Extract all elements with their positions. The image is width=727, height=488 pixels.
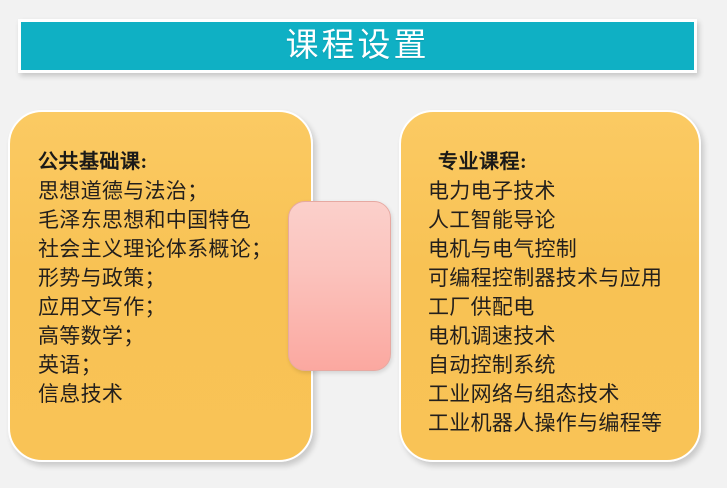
- right-box-heading: 专业课程:: [428, 148, 699, 177]
- right-course-item: 工业机器人操作与编程等: [428, 409, 699, 438]
- right-course-item: 电机与电气控制: [428, 235, 699, 264]
- left-box-content: 公共基础课: 思想道德与法治； 毛泽东思想和中国特色 社会主义理论体系概论； 形…: [10, 112, 311, 460]
- center-connector-card: [288, 201, 391, 371]
- right-course-item: 工厂供配电: [428, 293, 699, 322]
- right-course-item: 工业网络与组态技术: [428, 380, 699, 409]
- slide-canvas: 课程设置 公共基础课: 思想道德与法治； 毛泽东思想和中国特色 社会主义理论体系…: [0, 0, 727, 488]
- left-course-item: 英语；: [38, 351, 311, 380]
- right-course-item: 可编程控制器技术与应用: [428, 264, 699, 293]
- right-box-content: 专业课程: 电力电子技术 人工智能导论 电机与电气控制 可编程控制器技术与应用 …: [401, 112, 699, 460]
- title-banner: 课程设置: [18, 19, 697, 73]
- right-course-item: 自动控制系统: [428, 351, 699, 380]
- left-course-item: 毛泽东思想和中国特色: [38, 206, 311, 235]
- left-course-item: 社会主义理论体系概论；: [38, 235, 311, 264]
- professional-courses-box: 专业课程: 电力电子技术 人工智能导论 电机与电气控制 可编程控制器技术与应用 …: [399, 110, 701, 462]
- left-course-item: 高等数学；: [38, 322, 311, 351]
- right-course-item: 电力电子技术: [428, 177, 699, 206]
- left-course-item: 思想道德与法治；: [38, 177, 311, 206]
- public-foundation-courses-box: 公共基础课: 思想道德与法治； 毛泽东思想和中国特色 社会主义理论体系概论； 形…: [8, 110, 313, 462]
- left-course-item: 形势与政策；: [38, 264, 311, 293]
- left-course-item: 信息技术: [38, 380, 311, 409]
- left-course-item: 应用文写作；: [38, 293, 311, 322]
- right-course-item: 电机调速技术: [428, 322, 699, 351]
- left-box-heading: 公共基础课:: [38, 148, 311, 177]
- right-course-item: 人工智能导论: [428, 206, 699, 235]
- page-title: 课程设置: [286, 30, 430, 63]
